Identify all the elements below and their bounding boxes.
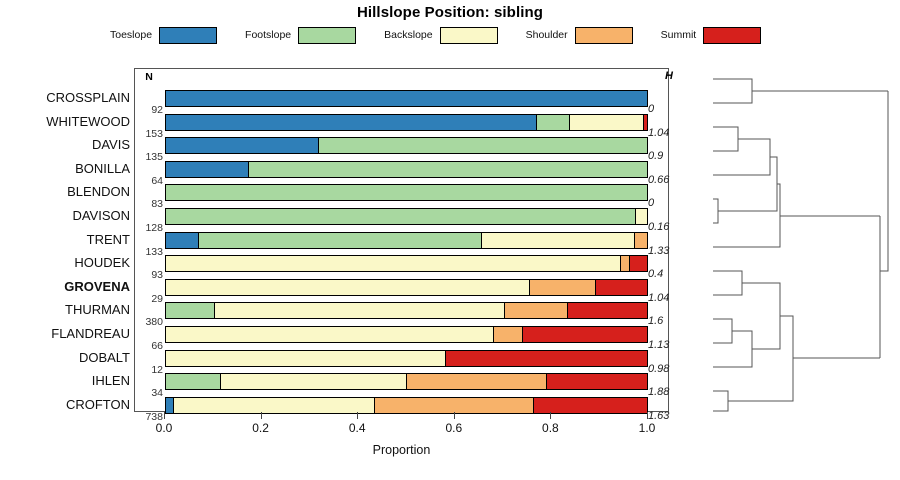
x-axis-tick — [454, 412, 455, 419]
h-value: 1.6 — [648, 315, 690, 327]
bar-segment-shoulder — [530, 280, 595, 295]
bar-segment-footslope — [166, 303, 215, 318]
n-value: 66 — [135, 340, 163, 352]
bar-segment-backslope — [174, 398, 376, 413]
bar-segment-toeslope — [166, 398, 174, 413]
n-value: 64 — [135, 175, 163, 187]
legend-item-summit: Summit — [661, 27, 790, 44]
h-value: 1.33 — [648, 245, 690, 257]
y-axis-labels: CROSSPLAINWHITEWOODDAVISBONILLABLENDONDA… — [0, 68, 130, 412]
stacked-bar — [165, 302, 648, 319]
legend-item-toeslope: Toeslope — [110, 27, 245, 44]
bar-row — [165, 279, 648, 296]
legend-label: Footslope — [245, 29, 291, 41]
bar-row — [165, 90, 648, 107]
h-column: H 01.040.90.6600.161.330.41.041.61.130.9… — [648, 68, 694, 412]
bar-row — [165, 114, 648, 131]
h-column-header: H — [648, 70, 690, 82]
legend-swatch — [703, 27, 761, 44]
bar-segment-footslope — [166, 374, 221, 389]
bar-segment-shoulder — [635, 233, 647, 248]
soil-series-label: CROFTON — [0, 397, 130, 412]
n-column-header: N — [135, 71, 163, 83]
legend-item-footslope: Footslope — [245, 27, 384, 44]
soil-series-label: DAVIS — [0, 137, 130, 152]
soil-series-label: IHLEN — [0, 373, 130, 388]
n-value: 153 — [135, 128, 163, 140]
legend-label: Summit — [661, 29, 697, 41]
n-value: 135 — [135, 151, 163, 163]
bar-segment-backslope — [166, 256, 621, 271]
bar-segment-summit — [596, 280, 647, 295]
x-axis-tick-label: 0.8 — [542, 421, 559, 435]
soil-series-label: BONILLA — [0, 161, 130, 176]
bar-segment-summit — [523, 327, 647, 342]
h-value: 0.9 — [648, 150, 690, 162]
stacked-bar — [165, 208, 648, 225]
bar-segment-shoulder — [621, 256, 630, 271]
soil-series-label: TRENT — [0, 232, 130, 247]
bar-segment-footslope — [249, 162, 647, 177]
bar-segment-backslope — [636, 209, 647, 224]
bar-segment-summit — [568, 303, 647, 318]
stacked-bar — [165, 161, 648, 178]
bar-segment-shoulder — [505, 303, 568, 318]
stacked-bar — [165, 255, 648, 272]
stacked-bar — [165, 279, 648, 296]
bar-segment-toeslope — [166, 233, 199, 248]
h-value: 0 — [648, 103, 690, 115]
legend-swatch — [159, 27, 217, 44]
stacked-bar — [165, 114, 648, 131]
x-axis-title: Proportion — [134, 443, 669, 457]
h-value: 1.04 — [648, 292, 690, 304]
legend-item-backslope: Backslope — [384, 27, 525, 44]
legend-label: Shoulder — [526, 29, 568, 41]
h-value: 0 — [648, 197, 690, 209]
x-axis-tick-label: 1.0 — [639, 421, 656, 435]
legend: ToeslopeFootslopeBackslopeShoulderSummit — [110, 25, 730, 45]
x-axis-tick — [261, 412, 262, 419]
legend-swatch — [440, 27, 498, 44]
bar-segment-footslope — [537, 115, 570, 130]
h-value: 0.16 — [648, 221, 690, 233]
bar-row — [165, 302, 648, 319]
stacked-bar-plot-panel: N 9215313564831281339329380661234738 — [134, 68, 669, 412]
bar-row — [165, 232, 648, 249]
x-axis-tick — [357, 412, 358, 419]
bar-segment-backslope — [482, 233, 636, 248]
stacked-bar — [165, 350, 648, 367]
stacked-bar — [165, 232, 648, 249]
x-axis-tick — [550, 412, 551, 419]
x-axis-tick-label: 0.2 — [252, 421, 269, 435]
legend-item-shoulder: Shoulder — [526, 27, 661, 44]
soil-series-label: DAVISON — [0, 208, 130, 223]
bar-segment-backslope — [166, 351, 446, 366]
bar-segment-backslope — [166, 327, 494, 342]
n-value: 380 — [135, 316, 163, 328]
bar-segment-footslope — [319, 138, 647, 153]
x-axis-tick — [647, 412, 648, 419]
bar-segment-toeslope — [166, 115, 537, 130]
bar-segment-summit — [534, 398, 647, 413]
bar-row — [165, 137, 648, 154]
soil-series-label: WHITEWOOD — [0, 114, 130, 129]
bar-segment-shoulder — [494, 327, 523, 342]
bar-row — [165, 350, 648, 367]
bars-area — [165, 69, 648, 411]
soil-series-label: HOUDEK — [0, 255, 130, 270]
h-value: 0.98 — [648, 363, 690, 375]
bar-segment-backslope — [221, 374, 407, 389]
bar-row — [165, 184, 648, 201]
soil-series-label: DOBALT — [0, 350, 130, 365]
legend-label: Backslope — [384, 29, 432, 41]
bar-segment-backslope — [215, 303, 505, 318]
bar-segment-footslope — [166, 209, 636, 224]
h-value: 1.13 — [648, 339, 690, 351]
bar-segment-shoulder — [407, 374, 546, 389]
n-value: 93 — [135, 269, 163, 281]
legend-swatch — [298, 27, 356, 44]
x-axis-tick-label: 0.0 — [156, 421, 173, 435]
n-value: 34 — [135, 387, 163, 399]
dendrogram — [690, 66, 895, 414]
stacked-bar — [165, 326, 648, 343]
bar-segment-summit — [446, 351, 647, 366]
bar-segment-footslope — [199, 233, 481, 248]
bar-segment-backslope — [166, 280, 530, 295]
x-axis-tick-label: 0.6 — [445, 421, 462, 435]
x-axis-tick-label: 0.4 — [349, 421, 366, 435]
legend-label: Toeslope — [110, 29, 152, 41]
stacked-bar — [165, 137, 648, 154]
bar-row — [165, 326, 648, 343]
h-value: 1.88 — [648, 386, 690, 398]
n-value: 29 — [135, 293, 163, 305]
stacked-bar — [165, 373, 648, 390]
h-value: 1.04 — [648, 127, 690, 139]
bar-segment-summit — [644, 115, 647, 130]
bar-segment-summit — [630, 256, 647, 271]
bar-segment-toeslope — [166, 162, 249, 177]
bar-segment-toeslope — [166, 91, 647, 106]
bar-segment-toeslope — [166, 138, 319, 153]
soil-series-label: THURMAN — [0, 302, 130, 317]
dendrogram-svg — [690, 66, 895, 414]
bar-segment-footslope — [166, 185, 647, 200]
n-value: 83 — [135, 198, 163, 210]
soil-series-label: FLANDREAU — [0, 326, 130, 341]
soil-series-label: CROSSPLAIN — [0, 90, 130, 105]
bar-segment-backslope — [570, 115, 644, 130]
x-axis-tick — [164, 412, 165, 419]
stacked-bar — [165, 90, 648, 107]
h-value: 0.4 — [648, 268, 690, 280]
bar-row — [165, 373, 648, 390]
n-value: 133 — [135, 246, 163, 258]
n-value: 92 — [135, 104, 163, 116]
bar-row — [165, 208, 648, 225]
bar-row — [165, 255, 648, 272]
soil-series-label: GROVENA — [0, 279, 130, 294]
soil-series-label: BLENDON — [0, 184, 130, 199]
stacked-bar — [165, 184, 648, 201]
h-value: 0.66 — [648, 174, 690, 186]
bar-segment-shoulder — [375, 398, 534, 413]
legend-swatch — [575, 27, 633, 44]
n-value: 12 — [135, 364, 163, 376]
n-value: 128 — [135, 222, 163, 234]
bar-segment-summit — [547, 374, 647, 389]
bar-row — [165, 161, 648, 178]
page-title: Hillslope Position: sibling — [0, 4, 900, 21]
